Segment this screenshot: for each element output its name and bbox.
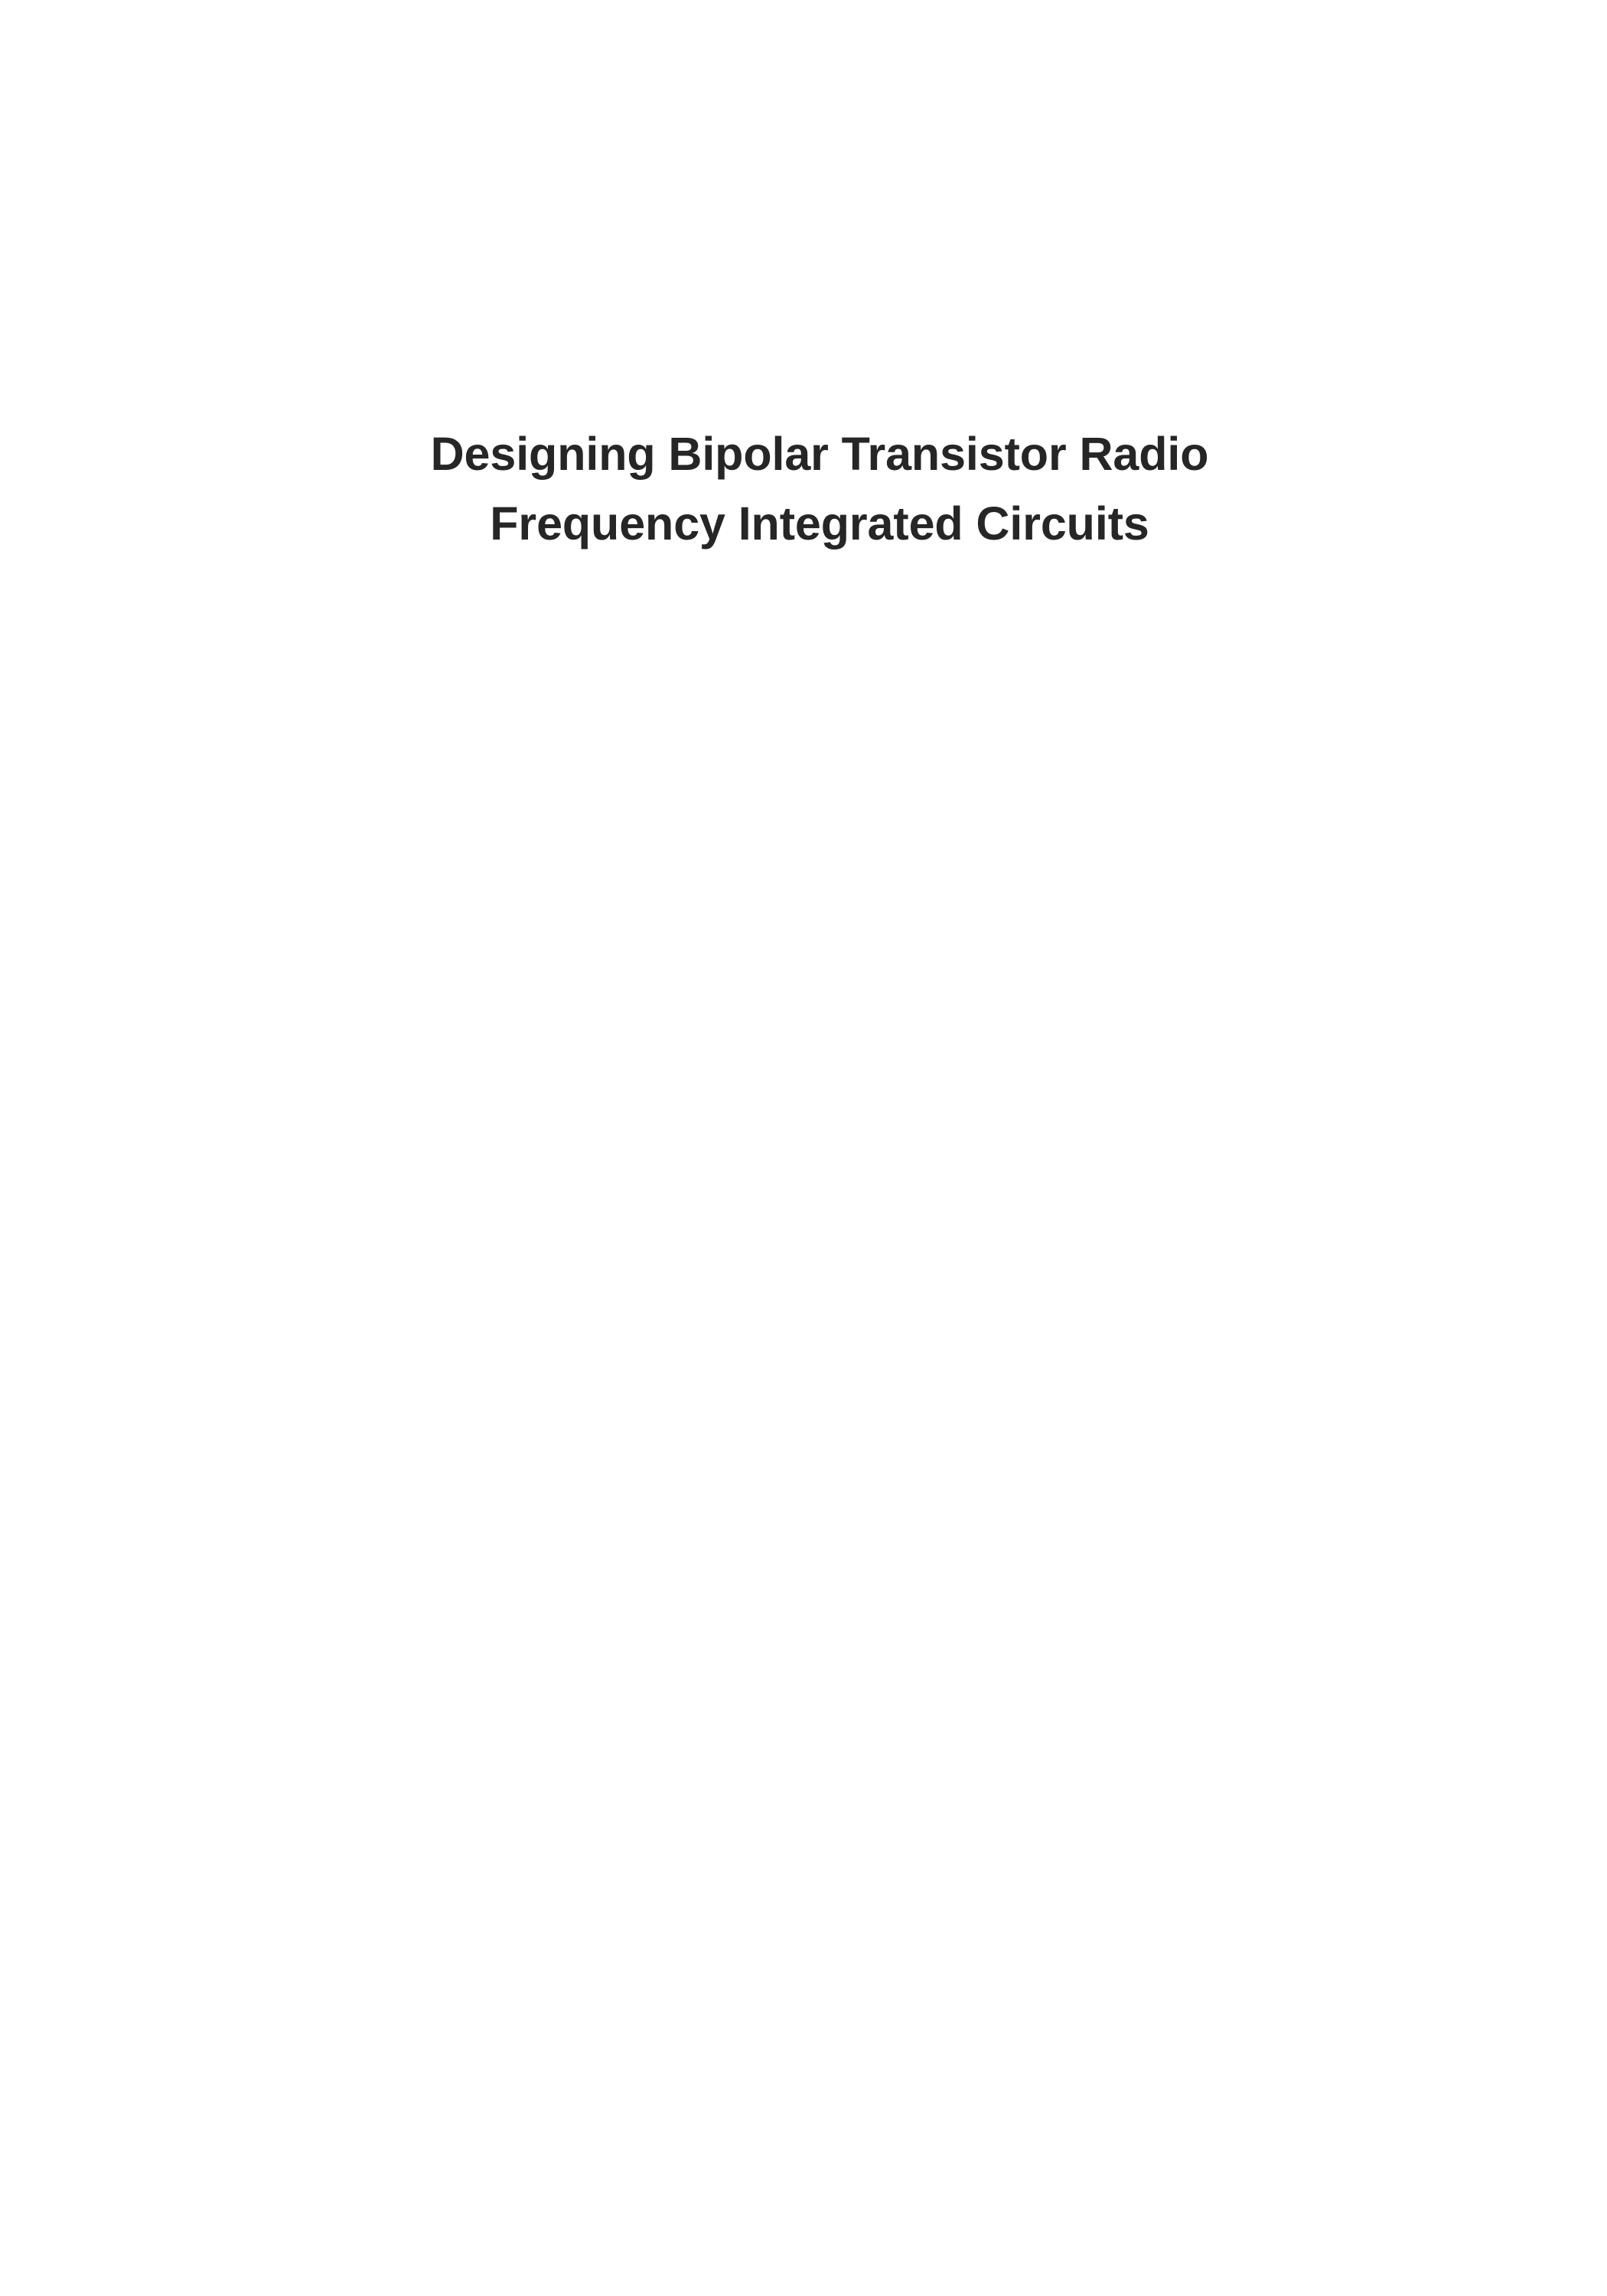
- page-title-line-1: Designing Bipolar Transistor Radio: [32, 419, 1607, 489]
- page-title-line-2: Frequency Integrated Circuits: [32, 489, 1607, 559]
- page-title: Designing Bipolar Transistor Radio Frequ…: [0, 419, 1607, 559]
- page-canvas: Designing Bipolar Transistor Radio Frequ…: [0, 0, 1607, 2296]
